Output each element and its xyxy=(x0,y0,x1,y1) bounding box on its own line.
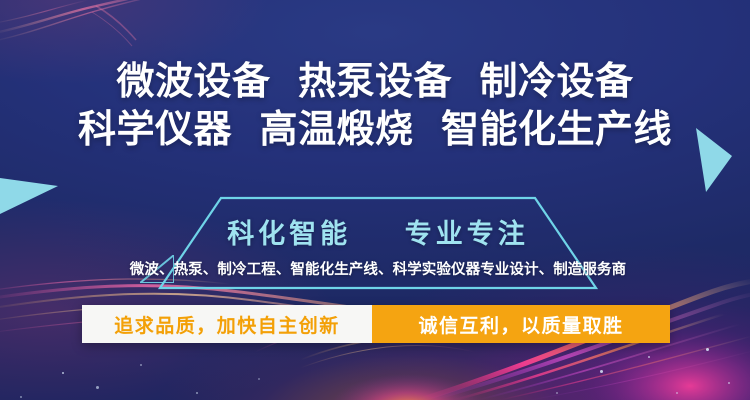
tagline-pill-quality[interactable]: 追求品质，加快自主创新 xyxy=(82,305,372,343)
headline-line-1: 微波设备 热泵设备 制冷设备 xyxy=(0,62,750,100)
tagline-pill-integrity[interactable]: 诚信互利，以质量取胜 xyxy=(372,305,670,343)
slogan-subtitle: 微波、热泵、制冷工程、智能化生产线、科学实验仪器专业设计、制造服务商 xyxy=(128,258,628,279)
promo-banner: 微波设备 热泵设备 制冷设备 科学仪器 高温煅烧 智能化生产线 科化智能 专业专… xyxy=(0,0,750,400)
tagline-pill-group: 追求品质，加快自主创新 诚信互利，以质量取胜 xyxy=(82,305,670,343)
headline-line-2: 科学仪器 高温煅烧 智能化生产线 xyxy=(0,110,750,148)
triangle-left-icon xyxy=(0,178,58,214)
slogan-badge: 科化智能 专业专注 微波、热泵、制冷工程、智能化生产线、科学实验仪器专业设计、制… xyxy=(128,196,628,292)
headline-block: 微波设备 热泵设备 制冷设备 科学仪器 高温煅烧 智能化生产线 xyxy=(0,62,750,148)
slogan-text: 科化智能 专业专注 xyxy=(128,212,628,251)
